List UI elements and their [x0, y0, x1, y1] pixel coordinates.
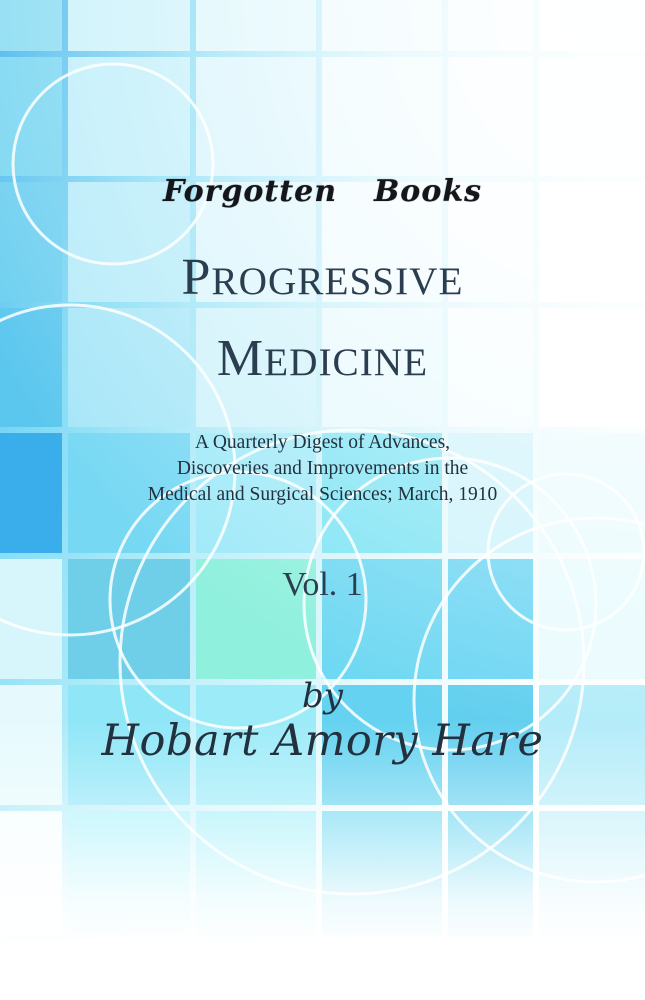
subtitle-line-3: Medical and Surgical Sciences; March, 19…: [0, 482, 645, 508]
title-initial-m: M: [217, 330, 264, 387]
subtitle-line-1: A Quarterly Digest of Advances,: [0, 430, 645, 456]
author-name: Hobart Amory Hare: [0, 716, 645, 766]
book-cover: Forgotten Books PROGRESSIVE MEDICINE A Q…: [0, 0, 645, 1000]
cover-content: Forgotten Books PROGRESSIVE MEDICINE A Q…: [0, 0, 645, 1000]
publisher-logo-word-2: Books: [374, 174, 482, 209]
page-title-line-2: MEDICINE: [0, 333, 645, 385]
publisher-logo-word-1: Forgotten: [163, 174, 337, 209]
subtitle: A Quarterly Digest of Advances, Discover…: [0, 430, 645, 508]
subtitle-line-2: Discoveries and Improvements in the: [0, 456, 645, 482]
volume-label: Vol. 1: [0, 566, 645, 604]
publisher-logo: Forgotten Books: [0, 174, 645, 209]
title-rest-medicine: EDICINE: [264, 341, 428, 384]
title-initial-p: P: [182, 249, 212, 306]
title-rest-progressive: ROGRESSIVE: [211, 260, 463, 303]
page-title-line-1: PROGRESSIVE: [0, 252, 645, 304]
byline-label: by: [0, 676, 645, 716]
